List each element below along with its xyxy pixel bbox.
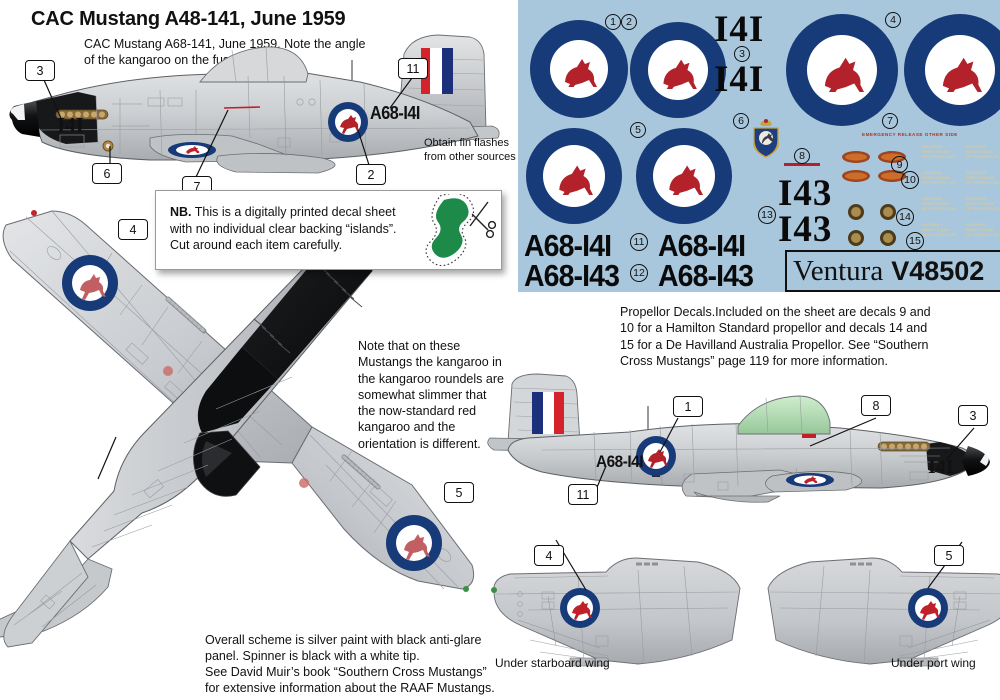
- stencil-block: WARNING KEEP CLEAR OF PROPELLER: [966, 170, 1000, 185]
- index-circle-6[interactable]: 6: [733, 113, 749, 129]
- kangaroo-icon: [556, 51, 602, 87]
- decal-emergency-text[interactable]: EMERGENCY RELEASE OTHER SIDE: [862, 132, 958, 137]
- index-circle-12[interactable]: 12: [630, 264, 648, 282]
- callout-11-top[interactable]: 11: [398, 58, 428, 79]
- decal-roundel-5a[interactable]: [526, 128, 622, 224]
- side-profile-top: [0, 10, 520, 200]
- decal-number-141-bottom[interactable]: I4I: [714, 58, 764, 101]
- callout-11-bottom[interactable]: 11: [568, 484, 598, 505]
- decal-roundel-1[interactable]: [530, 20, 628, 118]
- index-circle-3[interactable]: 3: [734, 46, 750, 62]
- ventura-logo-box: Ventura V48502: [785, 250, 1000, 292]
- stencil-block: WARNING KEEP CLEAR OF PROPELLER: [922, 196, 956, 211]
- index-circle-2[interactable]: 2: [621, 14, 637, 30]
- stencil-block: WARNING KEEP CLEAR OF PROPELLER: [966, 222, 1000, 237]
- ventura-brand: Ventura: [793, 255, 883, 288]
- index-circle-10[interactable]: 10: [901, 171, 919, 189]
- callout-8-bottom[interactable]: 8: [861, 395, 891, 416]
- decal-roundel-4b[interactable]: [904, 14, 1000, 126]
- scheme-note-2: See David Muir’s book “Southern Cross Mu…: [205, 664, 503, 696]
- kangaroo-icon: [659, 157, 709, 195]
- decal-roundel-4[interactable]: [786, 14, 898, 126]
- stencil-block: WARNING KEEP CLEAR OF PROPELLER: [922, 170, 956, 185]
- decal-serial-a68-143-left[interactable]: A68-I43: [524, 258, 619, 294]
- callout-5-planview[interactable]: 5: [444, 482, 474, 503]
- kangaroo-icon: [654, 51, 702, 89]
- index-circle-8[interactable]: 8: [794, 148, 810, 164]
- index-circle-11[interactable]: 11: [630, 233, 648, 251]
- caption-under-port-wing: Under port wing: [891, 656, 976, 670]
- nb-body: This is a digitally printed decal sheet …: [170, 205, 397, 252]
- profile-bottom-nose-number: I4I: [928, 456, 954, 479]
- nb-note-box: NB. This is a digitally printed decal sh…: [155, 190, 502, 270]
- index-circle-4[interactable]: 4: [885, 12, 901, 28]
- callout-2-top[interactable]: 2: [356, 164, 386, 185]
- propellor-note: Propellor Decals.Included on the sheet a…: [620, 304, 932, 369]
- decal-roundel-5b[interactable]: [636, 128, 732, 224]
- callout-1-bottom[interactable]: 1: [673, 396, 703, 417]
- stencil-block: WARNING KEEP CLEAR OF PROPELLER: [966, 196, 1000, 211]
- stencil-block: WARNING KEEP CLEAR OF PROPELLER: [966, 144, 1000, 159]
- stencil-block: WARNING KEEP CLEAR OF PROPELLER: [922, 222, 956, 237]
- callout-4-wing[interactable]: 4: [534, 545, 564, 566]
- callout-3-top[interactable]: 3: [25, 60, 55, 81]
- decal-sheet-panel: I4I I4I I43 I43 EMERGENCY RELEASE OTHER …: [518, 0, 1000, 292]
- profile-bottom-serial: A68-I4I: [596, 452, 643, 472]
- index-circle-13[interactable]: 13: [758, 206, 776, 224]
- ventura-product-code: V48502: [891, 256, 984, 287]
- kangaroo-icon: [931, 48, 989, 92]
- decal-serial-a68-143-right[interactable]: A68-I43: [658, 258, 753, 294]
- profile-top-nose-number: I4I: [57, 113, 84, 138]
- kangaroo-icon: [549, 157, 599, 195]
- profile-top-serial: A68-I4I: [370, 103, 420, 124]
- caption-under-starboard-wing: Under starboard wing: [495, 656, 610, 670]
- kangaroo-icon: [813, 48, 871, 92]
- callout-3-bottom[interactable]: 3: [958, 405, 988, 426]
- callout-6-top[interactable]: 6: [92, 163, 122, 184]
- nb-label: NB.: [170, 205, 192, 219]
- fin-flash-note: Obtain fin flashes from other sources: [424, 136, 520, 165]
- index-circle-1[interactable]: 1: [605, 14, 621, 30]
- decal-number-141-top[interactable]: I4I: [714, 8, 764, 51]
- side-profile-bottom: [480, 370, 1000, 520]
- decal-number-143-bottom[interactable]: I43: [778, 208, 832, 251]
- index-circle-9b[interactable]: 9: [891, 156, 908, 173]
- stencil-text-grid[interactable]: WARNING KEEP CLEAR OF PROPELLER WARNING …: [922, 144, 1000, 248]
- index-circle-7[interactable]: 7: [882, 113, 898, 129]
- stencil-block: WARNING KEEP CLEAR OF PROPELLER: [922, 144, 956, 159]
- index-circle-5[interactable]: 5: [630, 122, 646, 138]
- decal-roundel-2[interactable]: [630, 22, 726, 118]
- squadron-crest-icon[interactable]: [750, 118, 782, 160]
- callout-5-wing[interactable]: 5: [934, 545, 964, 566]
- index-circle-15[interactable]: 15: [906, 232, 924, 250]
- callout-4-planview[interactable]: 4: [118, 219, 148, 240]
- cut-around-icon: [400, 194, 496, 268]
- nb-note-text: NB. This is a digitally printed decal sh…: [170, 204, 400, 254]
- index-circle-14[interactable]: 14: [896, 208, 914, 226]
- scheme-note-1: Overall scheme is silver paint with blac…: [205, 632, 503, 664]
